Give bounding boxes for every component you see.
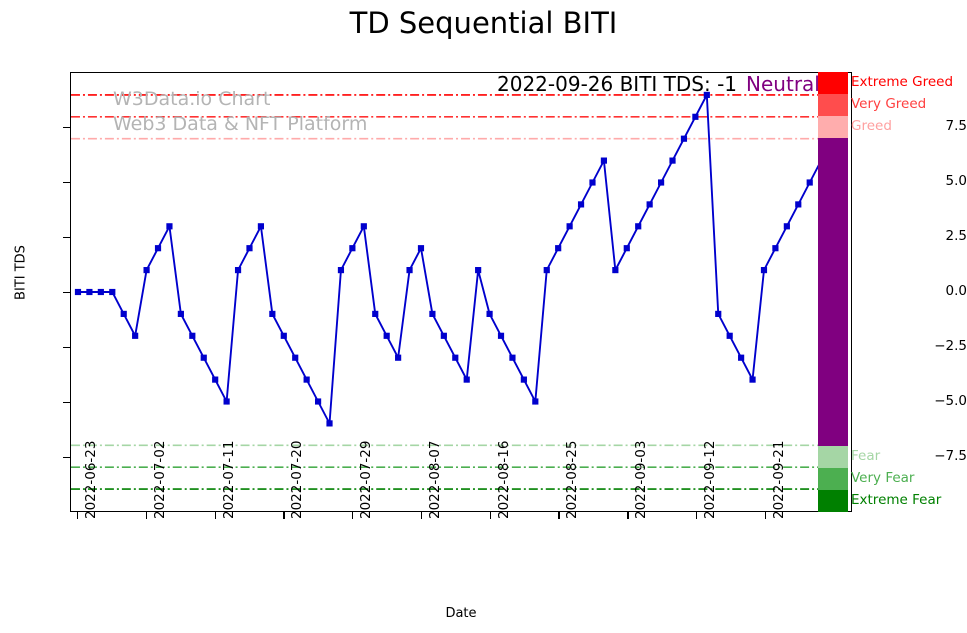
y-tick-mark (63, 292, 70, 293)
data-point-marker (635, 223, 641, 229)
colorbar-band-greed (818, 116, 848, 138)
data-point-marker (509, 355, 515, 361)
data-point-marker (464, 377, 470, 383)
data-point-marker (441, 333, 447, 339)
data-point-marker (406, 267, 412, 273)
data-point-marker (589, 179, 595, 185)
plot-area (70, 72, 852, 512)
annotation-sentiment-label: Neutral (746, 72, 820, 96)
colorbar-band-extreme-greed (818, 72, 848, 94)
data-point-marker (235, 267, 241, 273)
x-tick-label: 2022-08-16 (496, 441, 512, 519)
x-tick-label: 2022-07-11 (221, 441, 237, 519)
x-tick-mark (215, 512, 216, 519)
data-point-marker (338, 267, 344, 273)
data-point-marker (269, 311, 275, 317)
data-point-marker (521, 377, 527, 383)
data-point-marker (292, 355, 298, 361)
data-point-marker (532, 398, 538, 404)
y-tick-label: 7.5 (921, 118, 967, 134)
data-point-marker (761, 267, 767, 273)
plot-svg (71, 73, 851, 511)
data-point-marker (612, 267, 618, 273)
data-point-marker (498, 333, 504, 339)
data-point-marker (772, 245, 778, 251)
data-point-marker (304, 377, 310, 383)
legend-label-extreme-greed: Extreme Greed (851, 74, 953, 90)
data-point-marker (601, 158, 607, 164)
colorbar-band-neutral (818, 138, 848, 446)
data-point-marker (212, 377, 218, 383)
data-point-marker (624, 245, 630, 251)
data-point-marker (567, 223, 573, 229)
data-point-marker (807, 179, 813, 185)
colorbar-band-extreme-fear (818, 490, 848, 512)
data-point-marker (727, 333, 733, 339)
data-point-marker (109, 289, 115, 295)
x-tick-mark (146, 512, 147, 519)
data-point-marker (178, 311, 184, 317)
x-tick-label: 2022-08-25 (564, 441, 580, 519)
data-point-marker (326, 420, 332, 426)
data-point-marker (201, 355, 207, 361)
data-point-marker (784, 223, 790, 229)
y-tick-mark (63, 237, 70, 238)
x-tick-mark (696, 512, 697, 519)
data-point-marker (281, 333, 287, 339)
x-tick-label: 2022-08-07 (427, 441, 443, 519)
data-point-marker (189, 333, 195, 339)
data-point-marker (384, 333, 390, 339)
y-tick-label: 0.0 (921, 283, 967, 299)
data-point-marker (578, 201, 584, 207)
y-axis-label: BITI TDS (14, 213, 29, 333)
y-tick-mark (63, 182, 70, 183)
data-point-marker (315, 398, 321, 404)
x-tick-mark (558, 512, 559, 519)
legend-label-very-fear: Very Fear (851, 470, 914, 486)
data-point-marker (658, 179, 664, 185)
x-tick-label: 2022-07-29 (358, 441, 374, 519)
data-point-marker (86, 289, 92, 295)
data-point-marker (121, 311, 127, 317)
data-point-marker (555, 245, 561, 251)
data-point-marker (418, 245, 424, 251)
data-point-marker (132, 333, 138, 339)
y-tick-label: −5.0 (921, 393, 967, 409)
x-tick-label: 2022-09-21 (771, 441, 787, 519)
chart-figure: TD Sequential BITI W3Data.io Chart Web3 … (0, 0, 967, 633)
sentiment-colorbar (818, 72, 848, 512)
x-tick-label: 2022-07-20 (289, 441, 305, 519)
data-point-marker (452, 355, 458, 361)
x-tick-label: 2022-07-02 (152, 441, 168, 519)
data-point-marker (372, 311, 378, 317)
data-point-marker (486, 311, 492, 317)
colorbar-band-very-fear (818, 468, 848, 490)
x-axis-label: Date (70, 606, 852, 621)
x-tick-mark (421, 512, 422, 519)
data-point-marker (155, 245, 161, 251)
y-tick-label: 5.0 (921, 173, 967, 189)
data-point-marker (361, 223, 367, 229)
data-point-marker (143, 267, 149, 273)
data-point-marker (647, 201, 653, 207)
tds-series-group (75, 92, 847, 427)
x-tick-mark (352, 512, 353, 519)
data-point-marker (395, 355, 401, 361)
x-tick-mark (490, 512, 491, 519)
colorbar-band-very-greed (818, 94, 848, 116)
data-point-marker (795, 201, 801, 207)
threshold-lines-group (71, 95, 851, 489)
y-tick-label: −7.5 (921, 448, 967, 464)
y-tick-mark (63, 457, 70, 458)
colorbar-band-fear (818, 446, 848, 468)
data-point-marker (75, 289, 81, 295)
y-tick-label: −2.5 (921, 338, 967, 354)
data-point-marker (475, 267, 481, 273)
data-point-marker (544, 267, 550, 273)
current-value-annotation: 2022-09-26 BITI TDS: -1Neutral (497, 72, 820, 96)
legend-label-fear: Fear (851, 448, 880, 464)
y-tick-label: 2.5 (921, 228, 967, 244)
legend-label-very-greed: Very Greed (851, 96, 926, 112)
data-point-marker (669, 158, 675, 164)
x-tick-label: 2022-06-23 (83, 441, 99, 519)
y-tick-mark (63, 402, 70, 403)
data-point-marker (681, 136, 687, 142)
x-tick-mark (627, 512, 628, 519)
page-title: TD Sequential BITI (0, 6, 967, 40)
data-point-marker (749, 377, 755, 383)
data-point-marker (166, 223, 172, 229)
x-tick-label: 2022-09-12 (702, 441, 718, 519)
data-point-marker (715, 311, 721, 317)
x-tick-mark (283, 512, 284, 519)
data-point-marker (738, 355, 744, 361)
data-point-marker (246, 245, 252, 251)
legend-label-extreme-fear: Extreme Fear (851, 492, 941, 508)
data-point-marker (349, 245, 355, 251)
data-point-marker (258, 223, 264, 229)
data-point-marker (429, 311, 435, 317)
x-tick-label: 2022-09-03 (633, 441, 649, 519)
annotation-tds-text: 2022-09-26 BITI TDS: -1 (497, 72, 737, 96)
legend-label-greed: Greed (851, 118, 892, 134)
tds-line (78, 95, 844, 424)
data-point-marker (224, 398, 230, 404)
data-point-marker (98, 289, 104, 295)
x-tick-mark (765, 512, 766, 519)
x-tick-mark (77, 512, 78, 519)
y-tick-mark (63, 127, 70, 128)
data-point-marker (692, 114, 698, 120)
y-tick-mark (63, 347, 70, 348)
